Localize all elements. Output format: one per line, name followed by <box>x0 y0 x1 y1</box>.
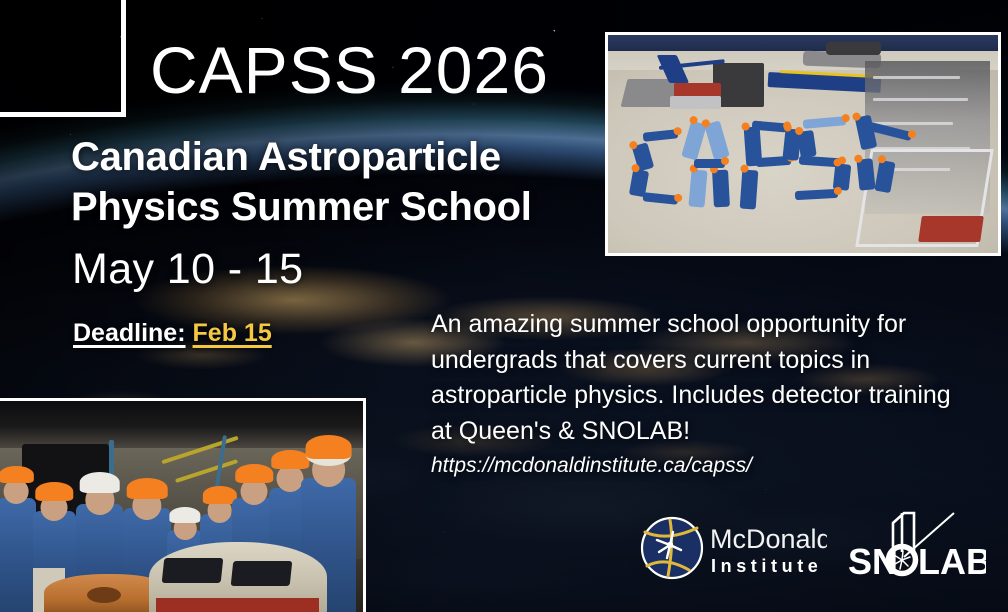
mcdonald-institute-logo-svg: McDonald Institute <box>637 512 827 584</box>
website-url[interactable]: https://mcdonaldinstitute.ca/capss/ <box>431 454 752 478</box>
corner-bracket-decoration <box>0 0 126 117</box>
event-dates: May 10 - 15 <box>72 245 303 294</box>
bracket-vertical-line <box>121 0 126 117</box>
cylinder-tank <box>826 42 881 55</box>
equipment-crate <box>670 96 721 109</box>
snolab-wordmark-lab: LAB <box>918 541 986 582</box>
mcdonald-institute-logo[interactable]: McDonald Institute <box>637 512 827 584</box>
description-text: An amazing summer school opportunity for… <box>431 307 961 449</box>
mcdonald-wordmark-line2: Institute <box>711 556 822 576</box>
deadline-label: Deadline: <box>73 319 186 347</box>
person-figure <box>739 170 757 210</box>
mcdonald-wordmark-line1: McDonald <box>710 524 827 554</box>
subtitle: Canadian Astroparticle Physics Summer Sc… <box>71 132 532 233</box>
deadline-value: Feb 15 <box>193 319 272 347</box>
subtitle-line-2: Physics Summer School <box>71 182 532 232</box>
snolab-logo[interactable]: SN LAB <box>846 505 986 585</box>
deadline-badge: Deadline:Feb 15 <box>73 319 272 348</box>
detector-tour-photo <box>0 398 366 612</box>
person-figure <box>0 461 36 612</box>
subtitle-line-1: Canadian Astroparticle <box>71 132 532 182</box>
red-cart <box>918 216 984 242</box>
equipment-crate <box>620 79 678 107</box>
detector-red-band <box>156 598 319 612</box>
logo-star-core <box>667 542 673 548</box>
page-title: CAPSS 2026 <box>150 36 549 106</box>
bracket-horizontal-line <box>0 112 126 117</box>
person-figure <box>856 159 875 191</box>
snolab-wordmark-sn: SN <box>848 541 898 582</box>
person-figure <box>688 170 707 208</box>
snolab-logo-svg: SN LAB <box>846 505 986 585</box>
person-figure <box>712 170 730 208</box>
capss-poster: CAPSS 2026 Canadian Astroparticle Physic… <box>0 0 1008 612</box>
students-spelling-capss-photo <box>605 32 1001 256</box>
person-figure <box>694 159 725 168</box>
